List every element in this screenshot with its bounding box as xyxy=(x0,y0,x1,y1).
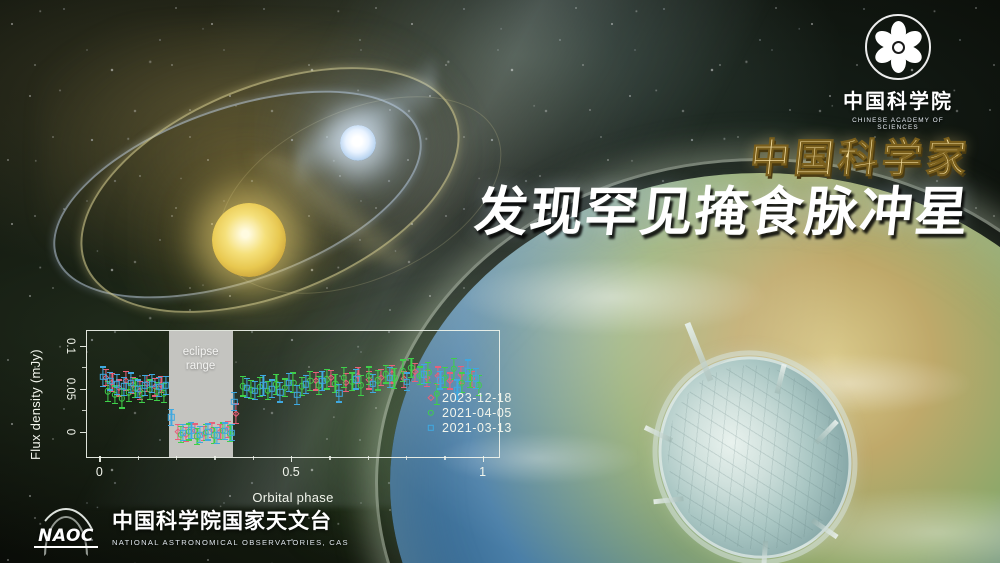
naoc-name-cn: 中国科学院国家天文台 xyxy=(112,505,349,535)
series-marker xyxy=(156,384,162,390)
error-bar-cap xyxy=(387,367,393,368)
error-bar-cap xyxy=(319,371,325,372)
data-point xyxy=(280,382,281,403)
series-marker xyxy=(188,427,194,433)
error-bar-cap xyxy=(370,374,376,375)
series-marker xyxy=(319,378,325,384)
series-marker xyxy=(149,380,155,386)
y-axis-tick xyxy=(80,389,86,390)
data-point xyxy=(330,370,331,387)
error-bar-cap xyxy=(366,388,372,389)
y-axis-tick xyxy=(80,346,86,347)
data-point xyxy=(339,384,340,403)
error-bar-cap xyxy=(454,379,460,380)
data-point xyxy=(322,371,323,392)
error-bar-cap xyxy=(214,443,220,444)
error-bar-cap xyxy=(458,366,464,367)
error-bar-cap xyxy=(252,399,258,400)
data-point xyxy=(231,424,232,441)
data-point xyxy=(182,424,183,441)
error-bar-cap xyxy=(178,442,184,443)
error-bar-cap xyxy=(451,358,457,359)
pulsar-beam xyxy=(296,37,436,207)
series-marker xyxy=(135,386,141,392)
data-point xyxy=(305,375,306,394)
series-marker xyxy=(370,380,376,386)
error-bar-cap xyxy=(107,372,113,373)
naoc-logo: NAOC 中国科学院国家天文台 NATIONAL ASTRONOMICAL OB… xyxy=(30,505,349,549)
naoc-emblem-icon: NAOC xyxy=(30,506,102,548)
error-bar-cap xyxy=(412,363,418,364)
series-marker xyxy=(107,378,113,384)
data-point xyxy=(468,359,469,381)
error-bar-cap xyxy=(192,423,198,424)
series-marker xyxy=(163,382,169,388)
x-axis-tick xyxy=(291,456,292,462)
error-bar-cap xyxy=(465,381,471,382)
error-bar-cap xyxy=(119,407,125,408)
data-point xyxy=(234,392,235,411)
series-marker xyxy=(121,383,127,389)
error-bar-cap xyxy=(135,379,141,380)
error-bar-cap xyxy=(473,388,479,389)
error-bar-cap xyxy=(421,364,427,365)
series-marker xyxy=(128,380,134,386)
error-bar-cap xyxy=(128,392,134,393)
series-marker xyxy=(213,432,219,438)
error-bar-cap xyxy=(222,439,228,440)
cas-emblem-icon xyxy=(865,14,931,80)
data-point xyxy=(327,369,328,390)
error-bar-cap xyxy=(349,390,355,391)
legend-label: 2021-04-05 xyxy=(442,406,512,420)
error-bar-cap xyxy=(383,382,389,383)
error-bar-cap xyxy=(341,387,347,388)
data-point xyxy=(171,409,172,426)
error-bar-cap xyxy=(147,399,153,400)
eclipse-range-label: eclipserange xyxy=(169,345,233,373)
poster-title: 中国科学家 发现罕见掩食脉冲星 xyxy=(475,138,970,241)
error-bar-cap xyxy=(273,374,279,375)
data-point xyxy=(360,375,361,396)
error-bar-cap xyxy=(244,397,250,398)
data-point xyxy=(445,367,446,388)
series-marker xyxy=(269,386,275,392)
x-axis-tick-minor xyxy=(214,456,215,460)
error-bar-cap xyxy=(180,424,186,425)
data-point xyxy=(152,374,153,393)
series-marker xyxy=(336,390,342,396)
data-point xyxy=(373,374,374,393)
series-marker xyxy=(353,376,359,382)
data-point xyxy=(288,373,289,392)
error-bar-cap xyxy=(121,377,127,378)
legend-marker xyxy=(426,393,435,402)
x-axis-tick-minor xyxy=(444,456,445,460)
error-bar-cap xyxy=(294,404,300,405)
series-marker xyxy=(114,381,120,387)
error-bar-cap xyxy=(222,422,228,423)
error-bar-cap xyxy=(332,374,338,375)
error-bar-cap xyxy=(244,378,250,379)
data-point xyxy=(191,422,192,439)
error-bar-cap xyxy=(205,423,211,424)
error-bar-cap xyxy=(336,384,342,385)
data-point xyxy=(130,372,131,393)
error-bar-cap xyxy=(370,392,376,393)
data-point xyxy=(389,367,390,388)
series-marker xyxy=(387,374,393,380)
data-point xyxy=(415,363,416,382)
error-bar-cap xyxy=(231,410,237,411)
error-bar-cap xyxy=(114,374,120,375)
error-bar-cap xyxy=(100,366,106,367)
error-bar-cap xyxy=(188,438,194,439)
series-marker xyxy=(260,382,266,388)
x-axis-tick-minor xyxy=(368,456,369,460)
data-point xyxy=(225,422,226,439)
data-point xyxy=(394,368,395,389)
series-marker xyxy=(302,381,308,387)
error-bar-cap xyxy=(400,359,406,360)
error-bar-cap xyxy=(112,403,118,404)
error-bar-cap xyxy=(156,396,162,397)
error-bar-cap xyxy=(447,372,453,373)
error-bar-cap xyxy=(260,375,266,376)
legend-marker-glyph xyxy=(427,409,433,415)
poster-canvas: 中国科学院 CHINESE ACADEMY OF SCIENCES 中国科学家 … xyxy=(0,0,1000,563)
legend-entry[interactable]: 2021-04-05 xyxy=(426,405,512,420)
x-axis-tick-minor xyxy=(406,456,407,460)
error-bar-cap xyxy=(121,395,127,396)
data-point xyxy=(123,377,124,396)
series-marker xyxy=(205,429,211,435)
error-bar-cap xyxy=(442,367,448,368)
error-bar-cap xyxy=(265,399,271,400)
error-bar-cap xyxy=(260,395,266,396)
series-marker xyxy=(229,430,235,436)
error-bar-cap xyxy=(229,424,235,425)
data-point xyxy=(144,375,145,396)
error-bar-cap xyxy=(168,425,174,426)
error-bar-cap xyxy=(257,377,263,378)
error-bar-cap xyxy=(435,366,441,367)
series-marker xyxy=(100,374,106,380)
legend-entry[interactable]: 2021-03-13 xyxy=(426,420,512,435)
data-point xyxy=(114,385,115,404)
data-point xyxy=(411,358,412,379)
x-axis-tick xyxy=(99,456,100,462)
x-axis-tick-label: 0 xyxy=(96,465,103,479)
series-marker xyxy=(197,431,203,437)
error-bar-cap xyxy=(286,391,292,392)
error-bar-cap xyxy=(126,401,132,402)
error-bar-cap xyxy=(114,394,120,395)
cas-name-cn: 中国科学院 xyxy=(832,85,964,114)
legend-marker-glyph xyxy=(427,394,435,402)
data-point xyxy=(103,366,104,387)
y-axis-tick-label: 0 xyxy=(64,429,76,435)
legend-label: 2023-12-18 xyxy=(442,391,512,405)
light-curve-chart: Flux density (mJy) eclipserange 00.5100.… xyxy=(22,318,522,508)
error-bar-cap xyxy=(252,381,258,382)
error-bar-cap xyxy=(277,401,283,402)
x-axis-tick-minor xyxy=(138,456,139,460)
error-bar-cap xyxy=(437,371,443,372)
series-marker xyxy=(450,366,456,372)
data-point xyxy=(449,372,450,389)
error-bar-cap xyxy=(100,386,106,387)
error-bar-cap xyxy=(128,372,134,373)
data-point xyxy=(310,371,311,392)
data-point xyxy=(356,369,357,390)
error-bar-cap xyxy=(358,395,364,396)
data-point xyxy=(263,375,264,396)
naoc-wordmark: NAOC xyxy=(30,526,102,546)
x-axis-tick-label: 0.5 xyxy=(282,465,299,479)
series-marker xyxy=(141,382,147,388)
error-bar-cap xyxy=(229,440,235,441)
series-marker xyxy=(252,387,258,393)
error-bar-cap xyxy=(417,366,423,367)
error-bar-cap xyxy=(149,374,155,375)
x-axis-tick-minor xyxy=(176,456,177,460)
error-bar-cap xyxy=(257,396,263,397)
error-bar-cap xyxy=(473,368,479,369)
error-bar-cap xyxy=(142,395,148,396)
data-point xyxy=(199,426,200,443)
error-bar-cap xyxy=(105,401,111,402)
error-bar-cap xyxy=(375,389,381,390)
y-axis-tick-label: 0.1 xyxy=(64,338,76,354)
error-bar-cap xyxy=(139,402,145,403)
error-bar-cap xyxy=(404,372,410,373)
x-axis-tick-label: 1 xyxy=(479,465,486,479)
cas-logo: 中国科学院 CHINESE ACADEMY OF SCIENCES xyxy=(832,14,964,131)
y-axis-tick-label: 0.05 xyxy=(64,377,76,399)
x-axis-title: Orbital phase xyxy=(86,490,500,505)
error-bar-cap xyxy=(366,366,372,367)
error-bar-cap xyxy=(307,390,313,391)
error-bar-cap xyxy=(186,439,192,440)
error-bar-cap xyxy=(277,382,283,383)
series-marker xyxy=(180,430,186,436)
white-pulsar-star xyxy=(340,125,376,161)
error-bar-cap xyxy=(303,393,309,394)
series-marker xyxy=(286,380,292,386)
naoc-name-block: 中国科学院国家天文台 NATIONAL ASTRONOMICAL OBSERVA… xyxy=(112,505,349,549)
legend-entry[interactable]: 2023-12-18 xyxy=(426,390,512,405)
series-marker xyxy=(277,389,283,395)
error-bar-cap xyxy=(465,359,471,360)
error-bar-cap xyxy=(316,394,322,395)
error-bar-cap xyxy=(412,381,418,382)
series-marker xyxy=(473,375,479,381)
error-bar-cap xyxy=(336,401,342,402)
chart-legend: 2023-12-182021-04-052021-03-13 xyxy=(426,390,512,435)
error-bar-cap xyxy=(197,442,203,443)
naoc-name-en: NATIONAL ASTRONOMICAL OBSERVATORIES, CAS xyxy=(112,538,349,547)
x-axis-tick-minor xyxy=(329,456,330,460)
error-bar-cap xyxy=(404,390,410,391)
error-bar-cap xyxy=(168,409,174,410)
error-bar-cap xyxy=(107,389,113,390)
error-bar-cap xyxy=(319,390,325,391)
y-axis-tick-minor xyxy=(82,367,86,368)
data-point xyxy=(246,378,247,399)
error-bar-cap xyxy=(387,387,393,388)
series-marker xyxy=(222,428,228,434)
error-bar-cap xyxy=(307,371,313,372)
error-bar-cap xyxy=(353,388,359,389)
data-point xyxy=(216,427,217,444)
data-point xyxy=(297,385,298,406)
series-marker xyxy=(404,379,410,385)
error-bar-cap xyxy=(294,385,300,386)
error-bar-cap xyxy=(343,391,349,392)
error-bar-cap xyxy=(299,377,305,378)
series-marker xyxy=(294,392,300,398)
x-axis-tick-minor xyxy=(253,456,254,460)
error-bar-cap xyxy=(163,394,169,395)
error-bar-cap xyxy=(135,397,141,398)
error-bar-cap xyxy=(163,376,169,377)
series-marker xyxy=(437,377,443,383)
series-marker xyxy=(168,414,174,420)
data-point xyxy=(254,381,255,400)
error-bar-cap xyxy=(341,367,347,368)
naoc-underline xyxy=(34,546,98,548)
error-bar-cap xyxy=(349,372,355,373)
data-point xyxy=(406,372,407,391)
data-point xyxy=(159,377,160,398)
error-bar-cap xyxy=(424,386,430,387)
error-bar-cap xyxy=(378,385,384,386)
series-marker xyxy=(420,371,426,377)
cas-name-en: CHINESE ACADEMY OF SCIENCES xyxy=(832,117,964,131)
error-bar-cap xyxy=(383,365,389,366)
error-bar-cap xyxy=(205,439,211,440)
error-bar-cap xyxy=(353,369,359,370)
y-axis-title: Flux density (mJy) xyxy=(28,328,43,460)
y-axis-tick xyxy=(80,432,86,433)
error-bar-cap xyxy=(161,402,167,403)
data-point xyxy=(121,388,122,409)
data-point xyxy=(293,372,294,393)
data-point xyxy=(137,379,138,398)
series-marker xyxy=(118,395,124,401)
series-marker xyxy=(231,399,237,405)
data-point xyxy=(166,376,167,395)
y-axis-tick-minor xyxy=(82,410,86,411)
error-bar-cap xyxy=(389,365,395,366)
error-bar-cap xyxy=(156,377,162,378)
error-bar-cap xyxy=(313,372,319,373)
error-bar-cap xyxy=(286,373,292,374)
legend-marker xyxy=(426,423,435,432)
data-point xyxy=(235,403,236,424)
legend-marker xyxy=(426,408,435,417)
error-bar-cap xyxy=(421,383,427,384)
error-bar-cap xyxy=(231,392,237,393)
error-bar-cap xyxy=(180,440,186,441)
error-bar-cap xyxy=(269,379,275,380)
title-line-gold: 中国科学家 xyxy=(473,138,972,180)
series-marker xyxy=(243,385,249,391)
error-bar-cap xyxy=(197,426,203,427)
data-point xyxy=(110,372,111,391)
data-point xyxy=(208,423,209,440)
x-axis-tick xyxy=(483,456,484,462)
data-point xyxy=(423,364,424,385)
error-bar-cap xyxy=(194,444,200,445)
series-marker xyxy=(465,367,471,373)
title-line-white: 发现罕见掩食脉冲星 xyxy=(472,184,973,241)
error-bar-cap xyxy=(408,358,414,359)
data-point xyxy=(380,369,381,386)
error-bar-cap xyxy=(269,397,275,398)
error-bar-cap xyxy=(375,370,381,371)
data-point xyxy=(475,368,476,389)
binary-star-artwork xyxy=(60,55,490,335)
error-bar-cap xyxy=(154,400,160,401)
data-point xyxy=(377,370,378,391)
data-point xyxy=(117,374,118,395)
legend-marker-glyph xyxy=(427,424,433,430)
error-bar-cap xyxy=(149,392,155,393)
error-bar-cap xyxy=(303,375,309,376)
error-bar-cap xyxy=(188,422,194,423)
error-bar-cap xyxy=(142,375,148,376)
legend-label: 2021-03-13 xyxy=(442,421,512,435)
error-bar-cap xyxy=(214,427,220,428)
cas-core xyxy=(892,41,905,54)
error-bar-cap xyxy=(282,396,288,397)
data-point xyxy=(453,358,454,380)
data-point xyxy=(343,367,344,388)
data-point xyxy=(428,362,429,383)
data-point xyxy=(271,379,272,398)
data-point xyxy=(440,371,441,390)
